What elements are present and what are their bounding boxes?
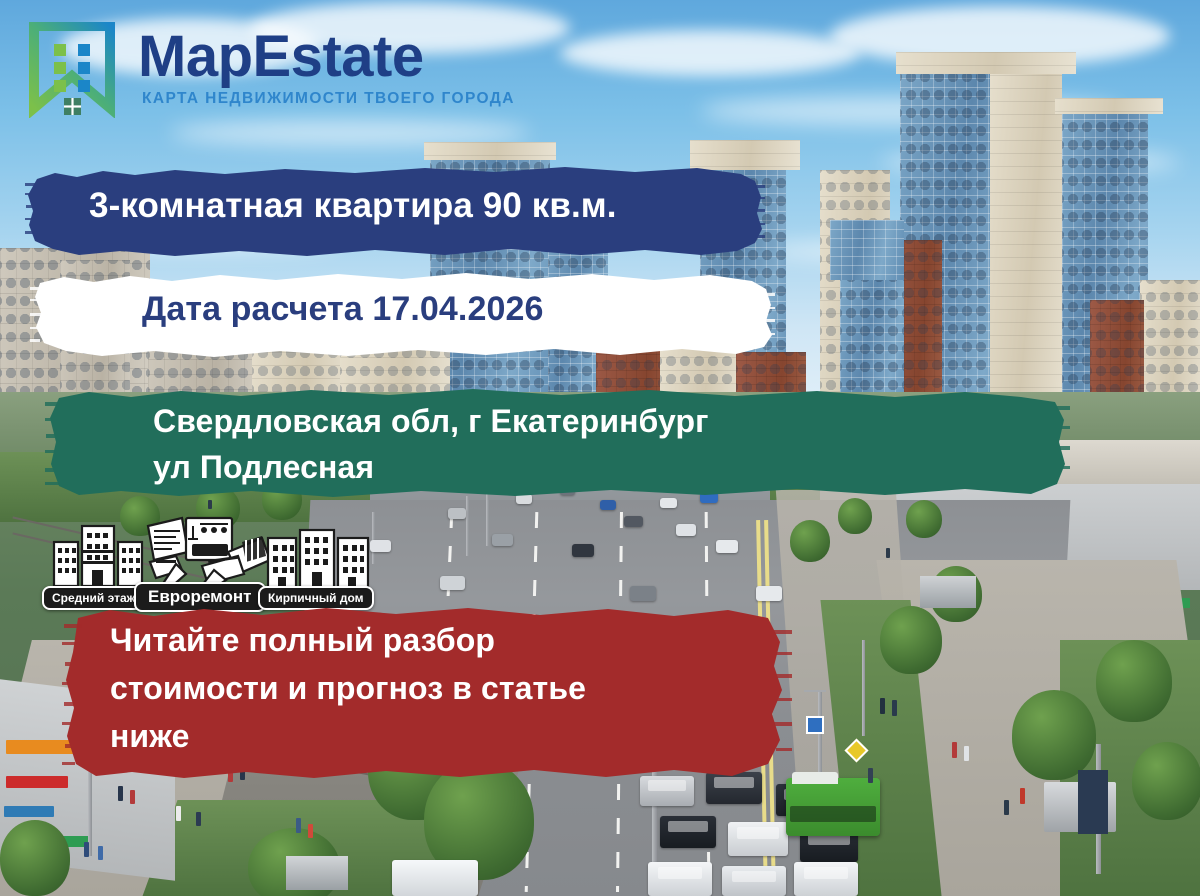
cta-banner: Читайте полный разбор стоимости и прогно… [62,604,792,784]
cta-line-2: стоимости и прогноз в статье [110,670,586,707]
brand-tagline: КАРТА НЕДВИЖИМОСТИ ТВОЕГО ГОРОДА [142,90,515,108]
badge-srednij-etazh: Средний этаж [48,520,148,612]
badge-kirpichnyj-dom: Кирпичный дом [264,522,372,612]
date-text: Дата расчета 17.04.2026 [142,290,544,329]
date-banner: Дата расчета 17.04.2026 [30,269,775,361]
brand-name: MapEstate [138,28,424,86]
brand-logo[interactable]: MapEstate КАРТА НЕДВИЖИМОСТИ ТВОЕГО ГОРО… [28,22,548,122]
title-banner: 3-комнатная квартира 90 кв.м. [25,163,765,261]
brick-building-icon [264,522,372,592]
apartment-building-icon [48,520,148,592]
cta-line-1: Читайте полный разбор [110,622,495,659]
address-line-1: Свердловская обл, г Екатеринбург [153,403,709,440]
address-banner: Свердловская обл, г Екатеринбург ул Подл… [45,386,1070,504]
title-text: 3-комнатная квартира 90 кв.м. [89,186,617,226]
cta-line-3: ниже [110,718,189,755]
address-line-2: ул Подлесная [153,449,374,486]
badge-evroremont: Евроремонт [142,512,272,612]
promo-card: MapEstate КАРТА НЕДВИЖИМОСТИ ТВОЕГО ГОРО… [0,0,1200,896]
bookmark-building-icon [28,22,116,118]
